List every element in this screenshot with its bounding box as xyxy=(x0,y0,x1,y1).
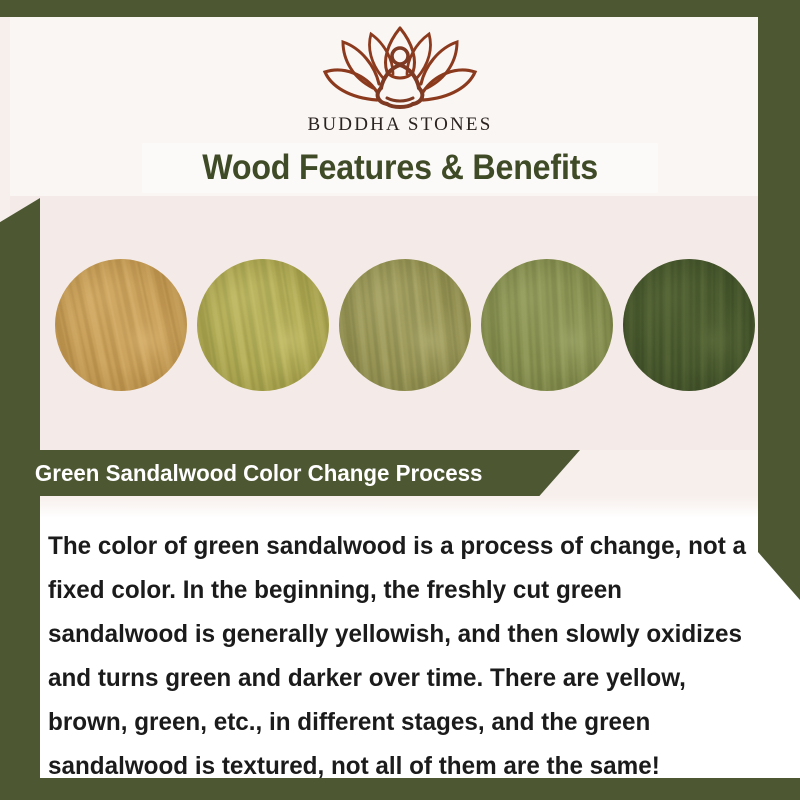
bead-shading xyxy=(55,259,187,391)
frame-border-left xyxy=(0,198,40,800)
bead-shading xyxy=(623,259,755,391)
infographic-poster: BUDDHA STONES Wood Features & Benefits G… xyxy=(0,0,800,800)
bead-stage-1 xyxy=(55,259,187,391)
bead-shading xyxy=(481,259,613,391)
page-title: Wood Features & Benefits xyxy=(202,148,598,188)
bead-stage-5 xyxy=(623,259,755,391)
brand-name: BUDDHA STONES xyxy=(0,114,800,136)
bead-stage-3 xyxy=(339,259,471,391)
bead-stage-2 xyxy=(197,259,329,391)
lotus-meditation-icon xyxy=(315,22,485,112)
bead-shading xyxy=(339,259,471,391)
bead-progression-row xyxy=(55,255,755,395)
panel-top-fade xyxy=(32,496,800,518)
section-header-bar: Green Sandalwood Color Change Process xyxy=(0,450,580,496)
section-title: Green Sandalwood Color Change Process xyxy=(35,460,483,487)
title-banner: Wood Features & Benefits xyxy=(142,143,658,193)
frame-border-top xyxy=(0,0,800,17)
brand-logo: BUDDHA STONES xyxy=(0,22,800,136)
bead-stage-4 xyxy=(481,259,613,391)
body-paragraph: The color of green sandalwood is a proce… xyxy=(48,524,748,788)
bead-shading xyxy=(197,259,329,391)
